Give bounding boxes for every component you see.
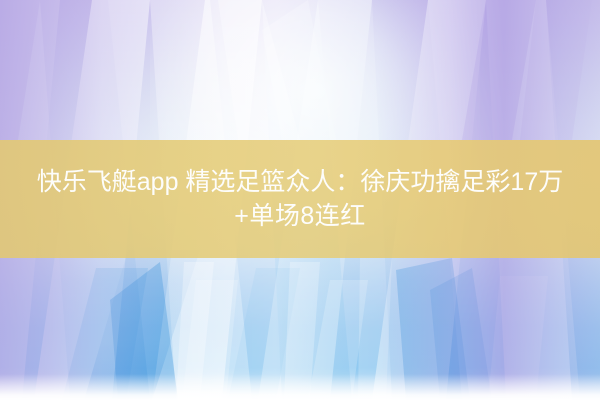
promo-banner: 快乐飞艇app 精选足篮众人：徐庆功擒足彩17万 +单场8连红	[0, 0, 600, 400]
caption-line-2: +单场8连红	[234, 199, 366, 233]
caption-band: 快乐飞艇app 精选足篮众人：徐庆功擒足彩17万 +单场8连红	[0, 140, 600, 258]
caption-line-1: 快乐飞艇app 精选足篮众人：徐庆功擒足彩17万	[37, 165, 563, 199]
